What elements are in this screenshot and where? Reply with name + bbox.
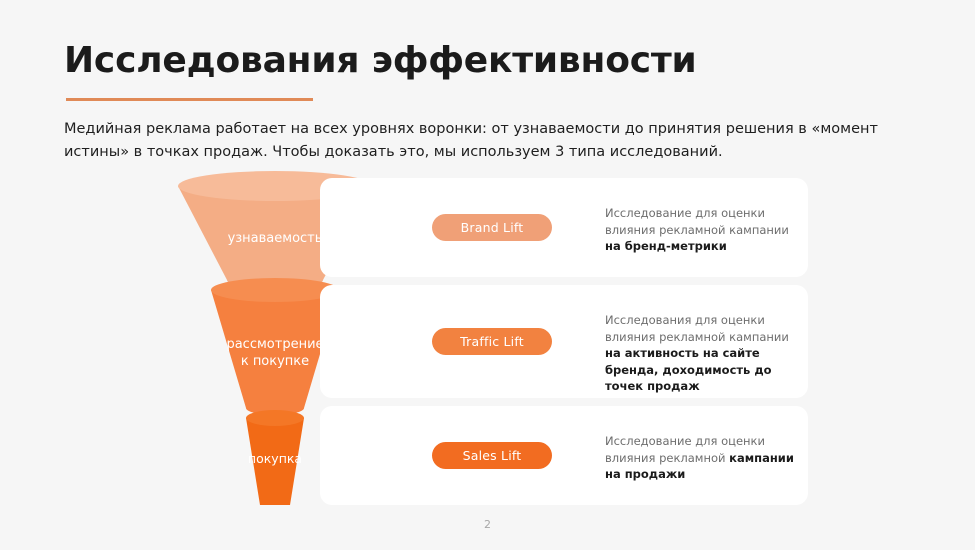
brand-lift-description: Исследование для оценки влияния рекламно… bbox=[605, 205, 805, 255]
sales-lift-description: Исследование для оценки влияния рекламно… bbox=[605, 433, 805, 483]
page-title: Исследования эффективности bbox=[64, 40, 697, 81]
brand-lift-pill-button[interactable]: Brand Lift bbox=[432, 214, 552, 241]
traffic-lift-pill-button[interactable]: Traffic Lift bbox=[432, 328, 552, 355]
slide-subtitle: Медийная реклама работает на всех уровня… bbox=[64, 118, 926, 164]
subtitle-line-2: истины» в точках продаж. Чтобы доказать … bbox=[64, 141, 926, 164]
page-number: 2 bbox=[0, 518, 975, 531]
funnel-stage-purchase bbox=[246, 410, 304, 505]
brand-lift-description-gray: Исследование для оценки влияния рекламно… bbox=[605, 206, 789, 237]
title-underline-rule bbox=[66, 98, 313, 101]
research-card-traffic-lift[interactable]: Traffic Lift Исследования для оценки вли… bbox=[320, 285, 808, 398]
subtitle-line-1: Медийная реклама работает на всех уровня… bbox=[64, 121, 878, 137]
brand-lift-description-bold: на бренд-метрики bbox=[605, 239, 727, 253]
slide-canvas: Исследования эффективности Медийная рекл… bbox=[0, 0, 975, 550]
traffic-lift-description: Исследования для оценки влияния рекламно… bbox=[605, 312, 805, 395]
research-card-brand-lift[interactable]: Brand Lift Исследование для оценки влиян… bbox=[320, 178, 808, 277]
traffic-lift-description-gray: Исследования для оценки влияния рекламно… bbox=[605, 313, 789, 344]
sales-lift-pill-button[interactable]: Sales Lift bbox=[432, 442, 552, 469]
research-card-sales-lift[interactable]: Sales Lift Исследование для оценки влиян… bbox=[320, 406, 808, 505]
traffic-lift-description-bold: на активность на сайте бренда, доходимос… bbox=[605, 346, 772, 393]
